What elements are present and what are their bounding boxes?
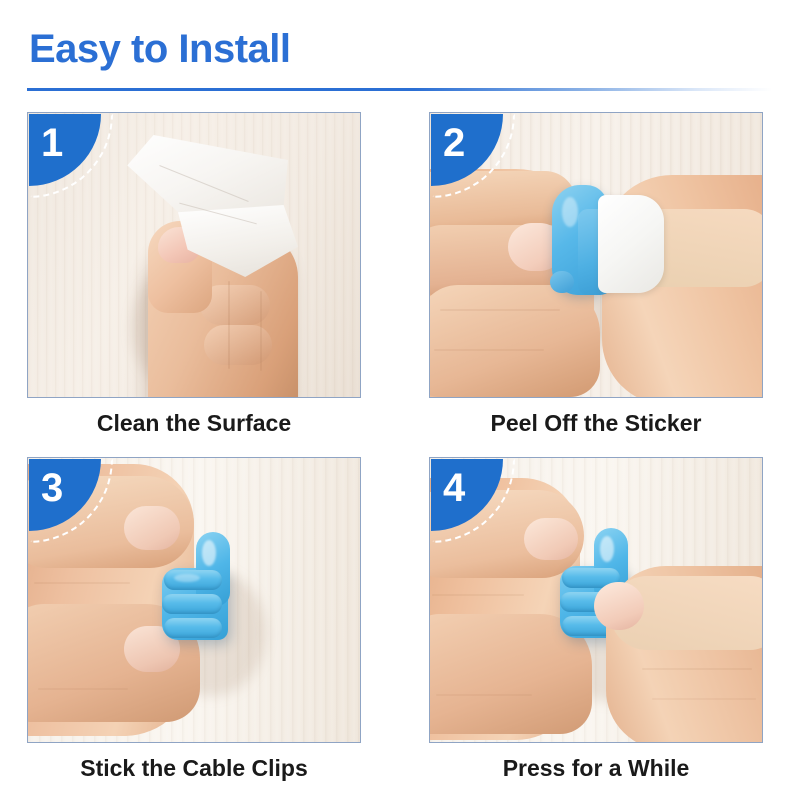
palm-crease [38, 688, 128, 690]
step-card-4: 4 Press for a While [429, 457, 765, 797]
palm-crease [432, 594, 524, 596]
clip-highlight [174, 574, 200, 582]
step-number-3: 3 [41, 465, 63, 511]
step-card-1: 1 Clean the Surface [27, 112, 363, 452]
palm-crease [34, 582, 130, 584]
palm-crease [440, 309, 560, 311]
step-number-4: 4 [443, 465, 465, 511]
step-caption-1: Clean the Surface [27, 408, 361, 438]
install-steps-grid: 1 Clean the Surface [0, 112, 800, 800]
title-divider [27, 88, 772, 91]
finger-crease [260, 291, 262, 371]
right-fingernail [594, 582, 644, 630]
step-number-1: 1 [41, 120, 63, 166]
left-thumb [429, 285, 600, 397]
step-caption-3: Stick the Cable Clips [27, 753, 361, 783]
step-photo-1: 1 [27, 112, 361, 398]
clip-finger-ridge [162, 594, 222, 614]
finger-crease [228, 281, 230, 369]
step-caption-4: Press for a While [429, 753, 763, 783]
step-photo-2: 2 [429, 112, 763, 398]
step-photo-4: 4 [429, 457, 763, 743]
step-number-2: 2 [443, 120, 465, 166]
white-sticker-backing [598, 195, 664, 293]
left-fingernail [524, 518, 578, 560]
page-title: Easy to Install [29, 26, 290, 72]
step-photo-3: 3 [27, 457, 361, 743]
step-card-2: 2 Peel Off the Sticker [429, 112, 765, 452]
palm-crease [434, 349, 544, 351]
clip-highlight [600, 536, 614, 562]
palm-crease [436, 694, 532, 696]
clip-highlight [562, 197, 578, 227]
knuckle-crease [642, 668, 752, 670]
clip-finger-ridge [164, 618, 222, 638]
clip-highlight [202, 540, 216, 566]
page-header: Easy to Install [0, 0, 800, 100]
index-fingernail [124, 506, 180, 550]
clip-nub [550, 271, 574, 293]
step-card-3: 3 Stick the Cable Clips [27, 457, 363, 797]
knuckle-crease [652, 698, 756, 700]
step-caption-2: Peel Off the Sticker [429, 408, 763, 438]
